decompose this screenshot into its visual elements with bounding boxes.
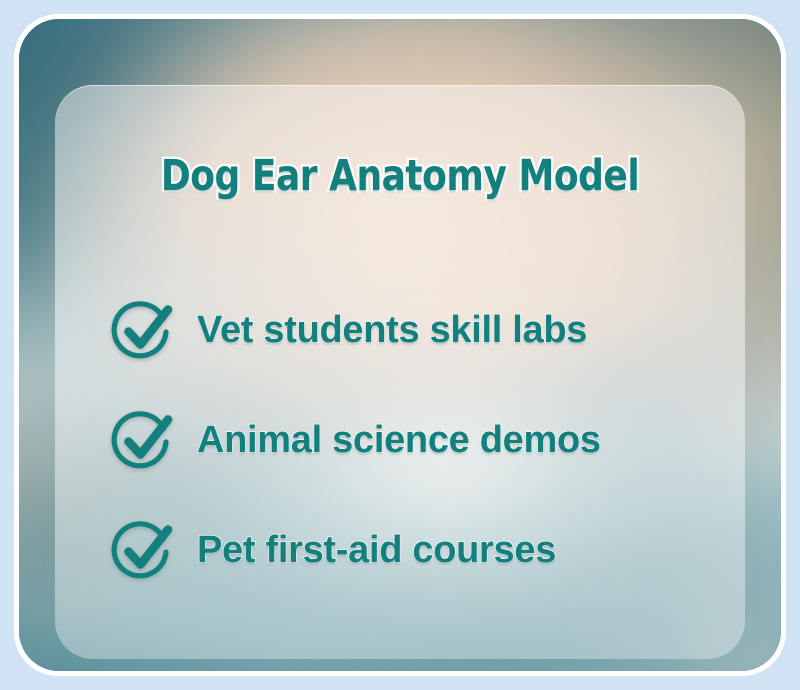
content-panel: Dog Ear Anatomy Model Vet students skill… bbox=[55, 85, 745, 659]
photo-frame: Dog Ear Anatomy Model Vet students skill… bbox=[14, 14, 786, 676]
check-circle-icon bbox=[111, 298, 175, 362]
feature-list: Vet students skill labs Animal science d… bbox=[111, 275, 751, 605]
list-item-label: Pet first-aid courses bbox=[197, 531, 556, 569]
check-circle-icon bbox=[111, 518, 175, 582]
list-item-label: Animal science demos bbox=[197, 421, 601, 459]
list-item-label: Vet students skill labs bbox=[197, 311, 587, 349]
page-title: Dog Ear Anatomy Model bbox=[79, 155, 721, 198]
list-item: Pet first-aid courses bbox=[111, 495, 751, 605]
list-item: Animal science demos bbox=[111, 385, 751, 495]
check-circle-icon bbox=[111, 408, 175, 472]
list-item: Vet students skill labs bbox=[111, 275, 751, 385]
promo-card: Dog Ear Anatomy Model Vet students skill… bbox=[0, 0, 800, 690]
